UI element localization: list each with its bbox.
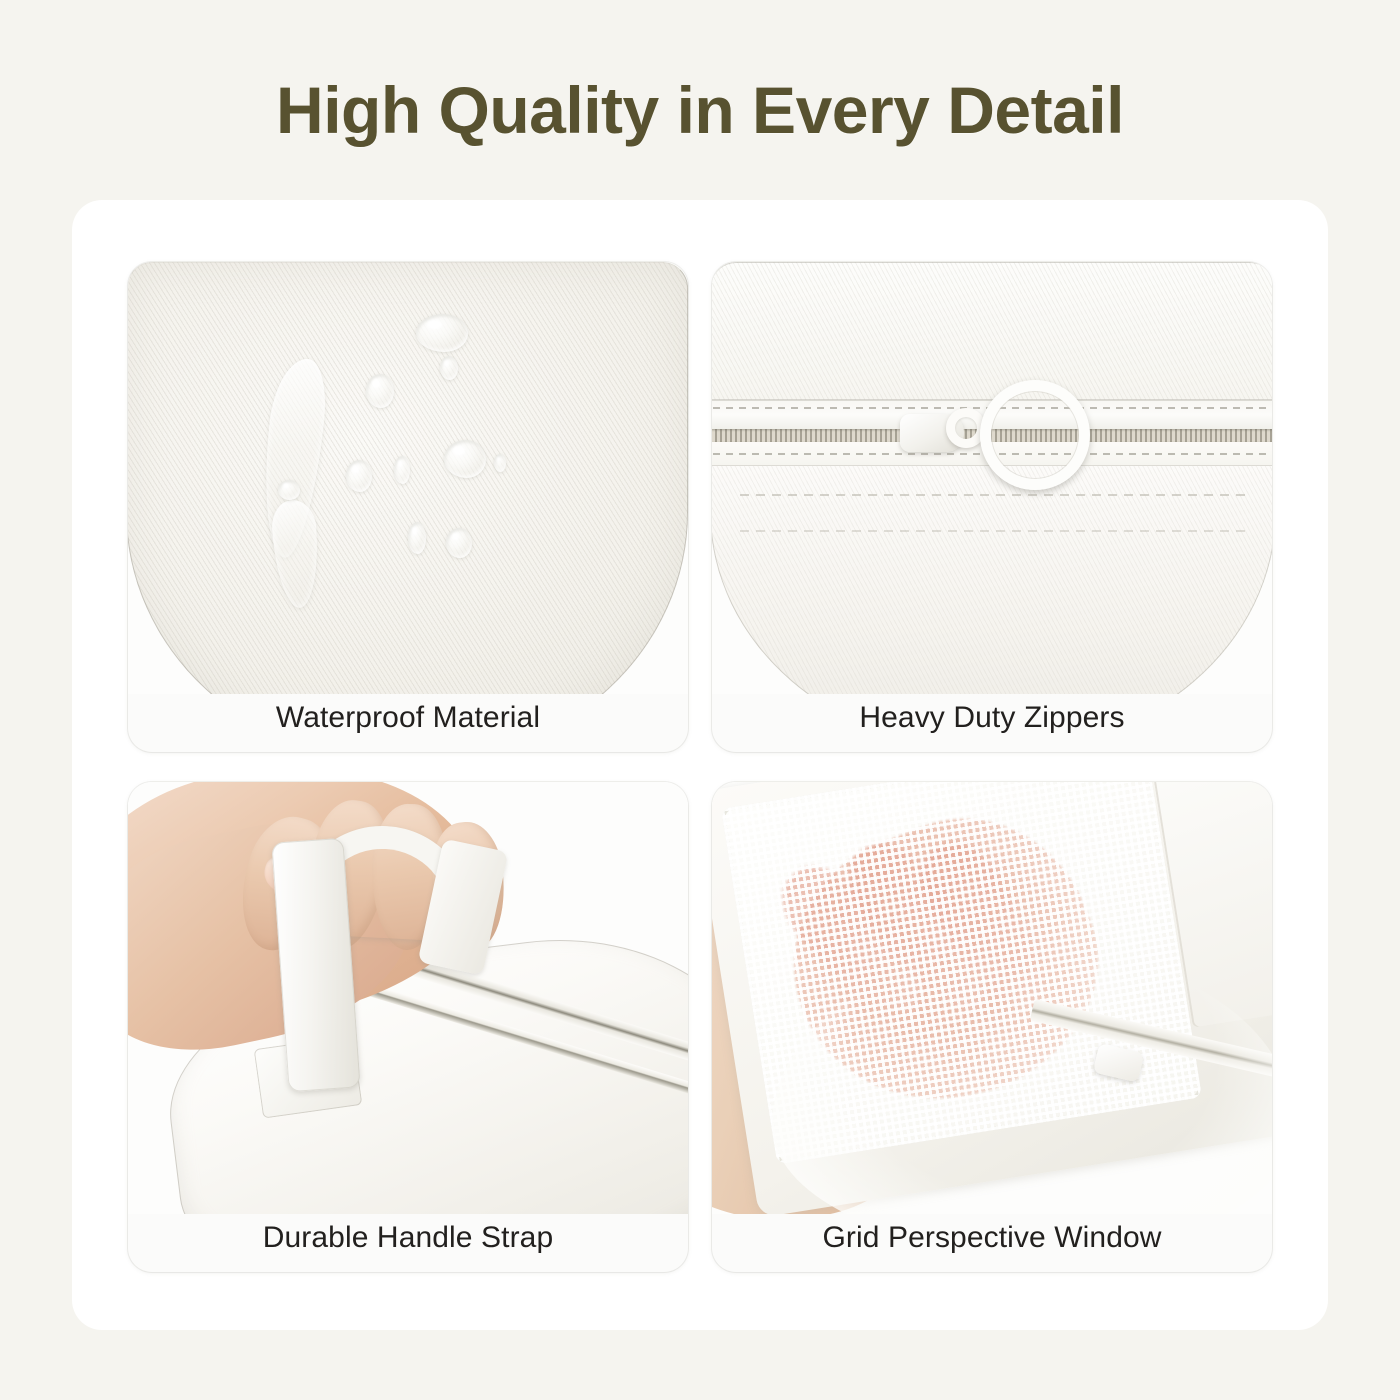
page-title: High Quality in Every Detail — [0, 76, 1400, 145]
feature-tile-mesh-window[interactable]: Grid Perspective Window — [712, 782, 1272, 1272]
feature-tile-handle[interactable]: Durable Handle Strap — [128, 782, 688, 1272]
mesh-window-scene — [712, 782, 1272, 1214]
zipper-ring-pull[interactable] — [980, 380, 1090, 490]
water-droplet — [278, 480, 300, 500]
water-droplet — [440, 356, 458, 380]
handle-photo — [128, 782, 688, 1214]
feature-tile-zippers[interactable]: Heavy Duty Zippers — [712, 262, 1272, 752]
mesh-window-photo — [712, 782, 1272, 1214]
water-droplet — [346, 460, 372, 492]
water-droplet — [446, 528, 472, 558]
feature-caption-zippers: Heavy Duty Zippers — [712, 684, 1272, 752]
water-droplet — [394, 456, 410, 484]
feature-caption-mesh-window: Grid Perspective Window — [712, 1204, 1272, 1272]
zipper-upper-fabric — [712, 262, 1272, 400]
feature-caption-handle: Durable Handle Strap — [128, 1204, 688, 1272]
feature-caption-waterproof: Waterproof Material — [128, 684, 688, 752]
feature-tile-grid: Waterproof Material — [128, 262, 1272, 1272]
zipper-lower-fabric — [712, 466, 1272, 694]
water-droplet — [494, 454, 506, 472]
handle-scene — [128, 782, 688, 1214]
feature-card: Waterproof Material — [72, 200, 1328, 1330]
waterproof-photo — [128, 262, 688, 694]
water-streak-tail — [270, 499, 321, 610]
zipper-fabric-panel — [712, 262, 1272, 694]
feature-tile-waterproof[interactable]: Waterproof Material — [128, 262, 688, 752]
water-droplet — [366, 374, 394, 408]
grid-mesh-window — [721, 782, 1202, 1164]
fabric-swatch — [128, 262, 688, 694]
water-droplet — [444, 440, 486, 478]
water-droplet — [408, 522, 426, 554]
mesh-grid-overlay — [721, 782, 1202, 1164]
zipper-photo — [712, 262, 1272, 694]
packing-cube-body — [712, 782, 1272, 1214]
water-droplet — [416, 314, 468, 352]
